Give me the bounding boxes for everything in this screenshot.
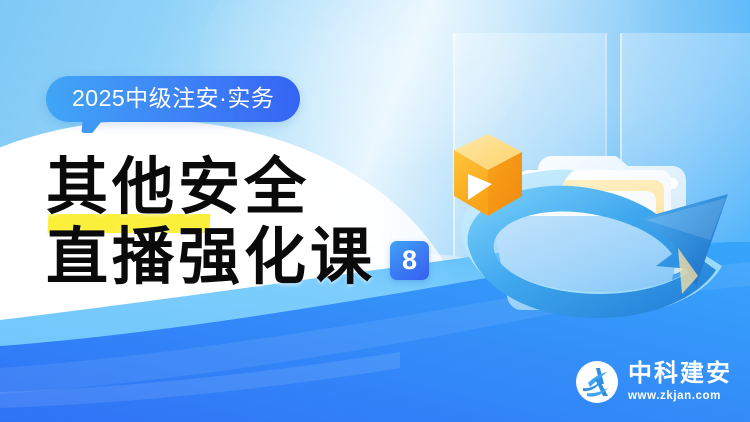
- headline-line-2: 直播强化课: [46, 222, 376, 292]
- headline-line-1-row: 其他安全: [46, 152, 466, 222]
- folder-arrow-illustration: [410, 70, 750, 345]
- course-banner: 2025中级注安·实务 其他安全 直播强化课 8: [0, 0, 750, 422]
- brand-url: www.zkjan.com: [628, 391, 732, 403]
- course-category-label: 2025中级注安·实务: [72, 85, 274, 111]
- headline-line-2-row: 直播强化课 8: [46, 222, 466, 292]
- zkjan-emblem-icon: [575, 360, 619, 404]
- headline-block: 其他安全 直播强化课 8: [46, 152, 466, 292]
- brand-logo-text: 中科建安 www.zkjan.com: [628, 362, 732, 403]
- bubble-tail-icon: [81, 120, 102, 133]
- headline-line-1: 其他安全: [46, 150, 310, 223]
- brand-logo[interactable]: 中科建安 www.zkjan.com: [575, 360, 732, 404]
- course-category-badge[interactable]: 2025中级注安·实务: [46, 76, 300, 122]
- brand-name: 中科建安: [628, 360, 732, 387]
